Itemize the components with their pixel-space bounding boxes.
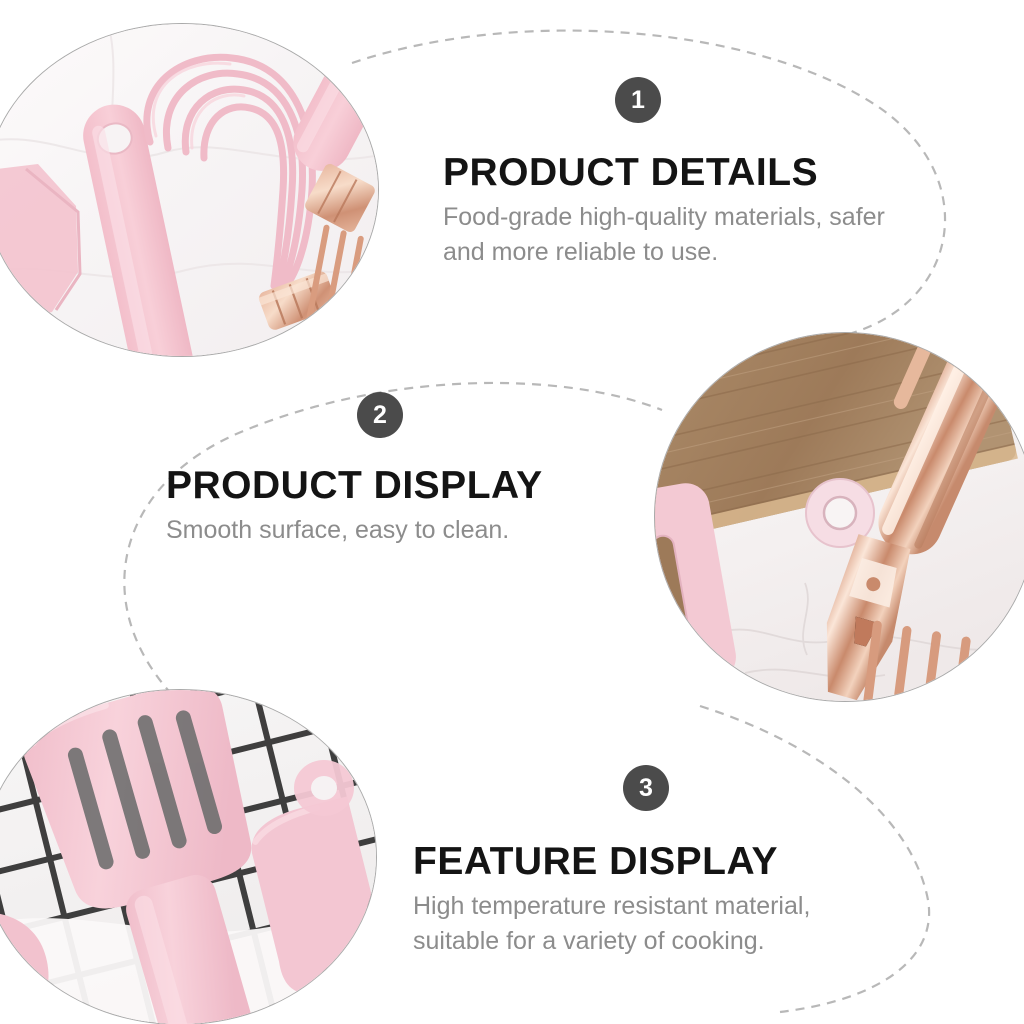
section-heading-1: PRODUCT DETAILS xyxy=(443,153,923,194)
step-badge-2: 2 xyxy=(357,392,403,438)
step-badge-1: 1 xyxy=(615,77,661,123)
feature-section-3: 3 FEATURE DISPLAY High temperature resis… xyxy=(413,765,883,960)
feature-section-1: 1 PRODUCT DETAILS Food-grade high-qualit… xyxy=(443,77,923,271)
product-photo-2 xyxy=(655,333,1024,701)
section-heading-3: FEATURE DISPLAY xyxy=(413,842,883,883)
feature-section-2: 2 PRODUCT DISPLAY Smooth surface, easy t… xyxy=(166,392,596,548)
product-infographic: 1 PRODUCT DETAILS Food-grade high-qualit… xyxy=(0,0,1024,1024)
section-body-2: Smooth surface, easy to clean. xyxy=(166,513,596,549)
section-heading-2: PRODUCT DISPLAY xyxy=(166,466,596,507)
step-badge-3: 3 xyxy=(623,765,669,811)
product-photo-1 xyxy=(0,24,378,356)
section-body-1: Food-grade high-quality materials, safer… xyxy=(443,200,918,271)
product-photo-3 xyxy=(0,690,376,1024)
section-body-3: High temperature resistant material, sui… xyxy=(413,889,868,960)
